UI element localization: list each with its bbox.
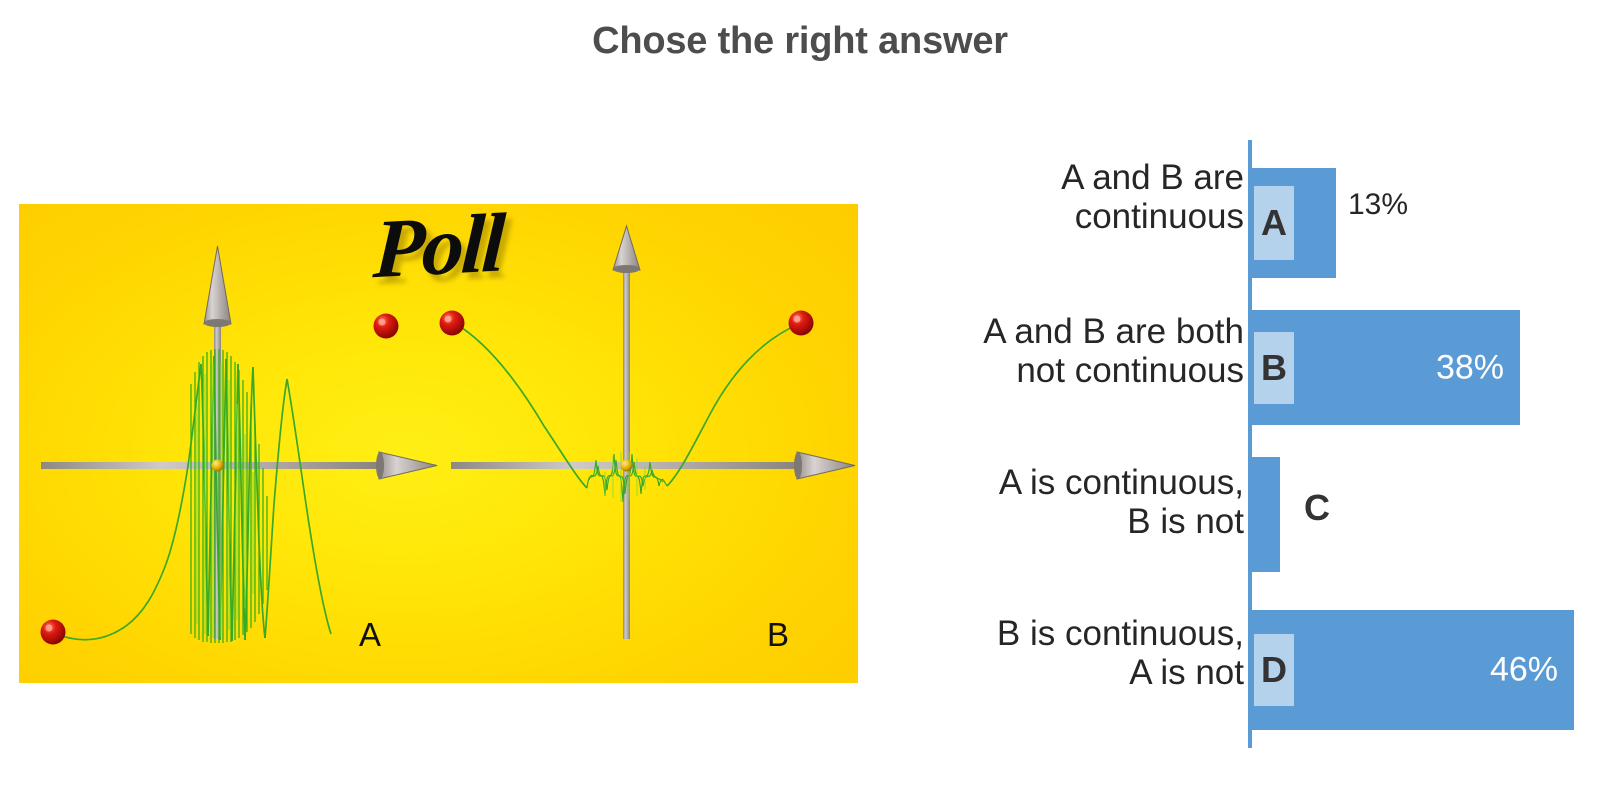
graph-a-marker-right	[374, 314, 399, 339]
poll-bar-c	[1250, 457, 1280, 572]
page-title: Chose the right answer	[0, 20, 1600, 63]
poll-watermark-text: Poll	[371, 204, 505, 298]
poll-option-label-d-line2: A is not	[884, 653, 1244, 692]
graph-b-y-axis	[613, 226, 640, 639]
poll-option-row-d[interactable]: B is continuous, A is not D 46%	[880, 582, 1580, 737]
poll-option-label-c-line2: B is not	[884, 502, 1244, 541]
graph-a-origin-dot	[212, 460, 224, 472]
poll-letter-badge-a: A	[1254, 186, 1294, 260]
poll-option-label-b-line1: A and B are both	[884, 312, 1244, 351]
graph-b-marker-left	[440, 311, 465, 336]
poll-bar-a: A	[1250, 168, 1336, 278]
poll-option-label-a: A and B are continuous	[884, 158, 1244, 236]
graph-b-marker-right	[789, 311, 814, 336]
poll-option-row-b[interactable]: A and B are both not continuous B 38%	[880, 282, 1580, 432]
poll-option-label-b-line2: not continuous	[884, 351, 1244, 390]
poll-bar-d: D 46%	[1250, 610, 1574, 730]
poll-letter-badge-b: B	[1254, 332, 1294, 404]
graph-a-marker-left	[41, 620, 66, 645]
poll-option-label-a-line1: A and B are	[884, 158, 1244, 197]
poll-option-row-a[interactable]: A and B are continuous A 13%	[880, 130, 1580, 280]
poll-illustration-panel: Poll A B	[19, 204, 858, 683]
graph-b-origin-dot	[621, 460, 633, 472]
poll-percent-b: 38%	[1436, 348, 1504, 387]
poll-option-label-c-line1: A is continuous,	[884, 463, 1244, 502]
poll-letter-badge-c: C	[1304, 487, 1330, 529]
poll-option-label-b: A and B are both not continuous	[884, 312, 1244, 390]
poll-option-label-c: A is continuous, B is not	[884, 463, 1244, 541]
poll-option-label-d: B is continuous, A is not	[884, 614, 1244, 692]
poll-results-chart: A and B are continuous A 13% A and B are…	[880, 130, 1580, 755]
poll-letter-badge-d: D	[1254, 634, 1294, 706]
graph-a-label: A	[359, 616, 381, 654]
graph-b-label: B	[767, 616, 789, 654]
poll-percent-d: 46%	[1490, 651, 1558, 690]
graph-a-curve	[49, 356, 331, 641]
poll-percent-a: 13%	[1348, 188, 1408, 222]
poll-option-row-c[interactable]: A is continuous, B is not C	[880, 435, 1580, 580]
poll-bar-b: B 38%	[1250, 310, 1520, 425]
poll-option-label-a-line2: continuous	[884, 197, 1244, 236]
graph-b-x-axis	[451, 452, 855, 479]
poll-option-label-d-line1: B is continuous,	[884, 614, 1244, 653]
